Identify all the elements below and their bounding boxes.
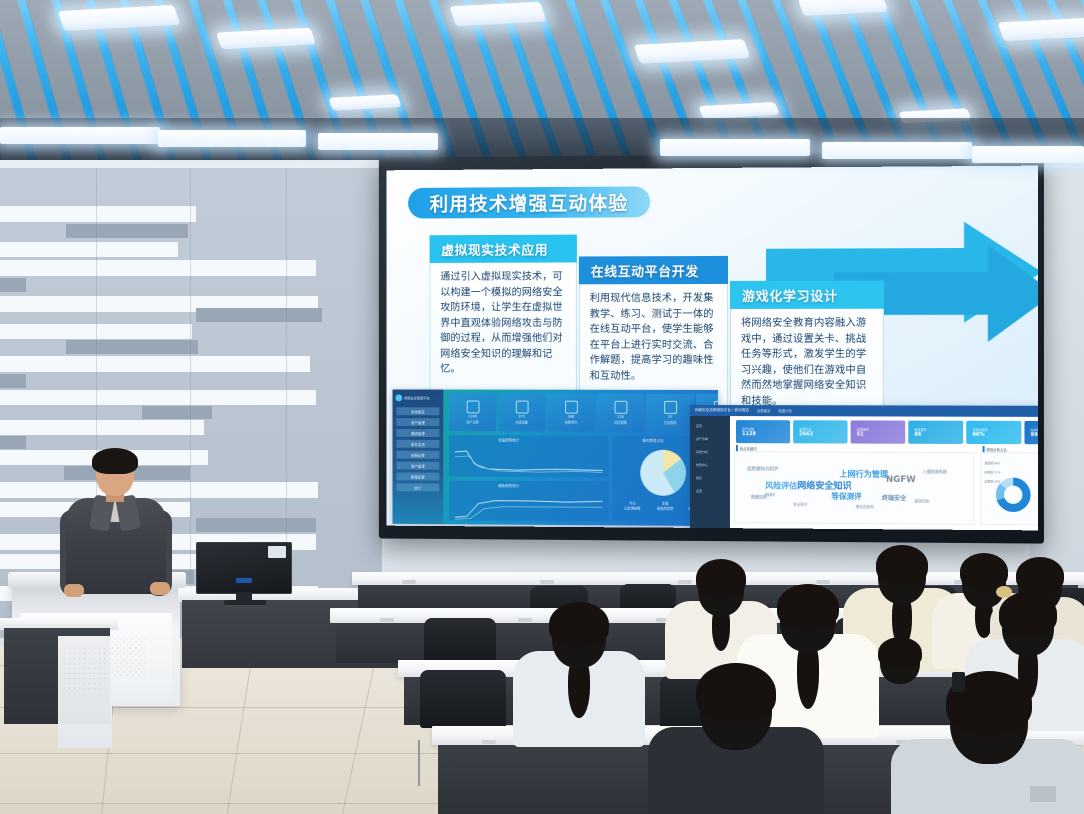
dashboard-right-kpi-2[interactable]: 高危漏洞51 [851,420,906,443]
word-cloud-term-2: 风险评估 [765,480,797,491]
student-hair-4 [549,602,608,647]
dashboard-right-topbar: 网络安全态势感知平台 / 首页概览 态势概览 数据分析 [690,405,1038,417]
donut-legend-item-2: 高风险 14% [985,479,1001,483]
wall-bar-6 [196,308,322,322]
stat-value-0: 已处理告警 [624,506,640,510]
wall-bar-13 [0,420,204,435]
monitor-label [268,546,286,558]
pie-chart-title: 事件类型占比 [642,439,663,444]
presentation-slide[interactable]: 利用技术增强互动体验 虚拟现实技术应用 通过引入虚拟现实技术，可以构建一个模拟的… [387,166,1038,531]
word-cloud-term-8: 入侵检测系统 [922,469,946,475]
student-hair-1 [876,545,929,585]
wall-bar-2 [0,242,178,257]
tile-label-3: 风险漏洞 [614,420,627,425]
student-badge [1030,786,1056,802]
line-chart-title-0: 流量趋势统计 [498,438,519,443]
wall-seam-1 [190,168,191,638]
kpi-value-1: 2663 [799,431,847,437]
floor-grout-v-2 [342,645,379,814]
wall-bar-12 [142,406,212,419]
dashboard-left-menu-item-3[interactable]: 事件监测 [396,440,439,448]
word-cloud-term-11: 零信任架构 [856,505,874,510]
shield-icon [466,400,479,413]
network-icon [515,401,528,414]
tile-value-1: 972 [518,414,525,418]
donut-hole [1004,486,1022,504]
list-icon [565,401,578,414]
dashboard-left-menu-item-5[interactable]: 用户管理 [396,462,439,470]
dashboard-right-kpi-5[interactable]: 在线率99% [1024,421,1037,445]
student-phone[interactable] [952,672,965,692]
dashboard-right-screenshot: 网络安全态势感知平台 / 首页概览 态势概览 数据分析 首页资产清单风险分析告警… [690,405,1038,530]
desk-grommet-1-1 [518,618,532,622]
word-cloud-term-5: 终端安全 [882,493,906,502]
student-hair-2 [960,553,1008,590]
chair-leg-0 [418,740,420,786]
desk-grommet-0-1 [540,580,554,584]
side-desk-perforation [62,646,106,690]
kpi-value-2: 51 [857,431,906,437]
dashboard-right-menu-item-1[interactable]: 资产清单 [693,435,727,442]
dashboard-left-menu-item-4[interactable]: 告警处置 [396,451,439,459]
panel-heading-platform: 在线互动平台开发 [579,256,728,284]
dashboard-left-screenshot: 网络安全管理平台 系统概览资产管理漏洞管理事件监测告警处置用户管理策略配置统计 … [393,389,718,526]
tile-value-2: 348 [568,415,575,419]
dashboard-left-tile-0[interactable]: 1286资产总数 [449,394,496,432]
panel-heading-vr: 虚拟现实技术应用 [430,235,577,263]
dashboard-left-tile-3[interactable]: 126风险漏洞 [597,394,645,432]
tile-value-3: 126 [617,415,624,419]
dashboard-left-menu-item-0[interactable]: 系统概览 [396,407,439,415]
presenter-hand-left [64,584,84,597]
dashboard-right-kpi-1[interactable]: 监测节点2663 [793,420,847,443]
dashboard-left-menu-item-7[interactable]: 统计 [396,483,439,491]
wall-light-3 [660,139,810,156]
dashboard-left-menu-item-2[interactable]: 漏洞管理 [396,429,439,437]
dashboard-right-menu-item-4[interactable]: 报表 [693,474,727,481]
tile-label-0: 资产总数 [466,419,478,424]
floor-grout-h-3 [0,803,470,804]
slide-title: 利用技术增强互动体验 [408,186,650,218]
student-chair-4[interactable] [424,618,496,662]
panel-heading-gamified: 游戏化学习设计 [730,281,884,309]
desk-grommet-3-0 [482,740,496,744]
dashboard-right-nav-0[interactable]: 态势概览 [757,408,771,413]
dashboard-right-breadcrumb: 网络安全态势感知平台 / 首页概览 [695,408,749,413]
dashboard-right-nav-1[interactable]: 数据分析 [778,408,792,413]
monitor-port-icon [236,578,252,583]
dashboard-left-stat-1: 本周新增风险项 [649,502,681,512]
layers-icon [614,401,627,414]
word-cloud-term-3: NGFW [886,475,916,485]
wall-bar-4 [0,278,26,292]
line-chart-1 [449,492,608,523]
desk-grommet-0-3 [816,580,830,584]
document-icon [664,401,677,414]
tile-label-1: 在线设备 [515,419,528,424]
wall-bar-10 [0,374,26,388]
word-cloud-term-4: 等保测评 [831,491,861,502]
wall-bar-8 [66,340,198,354]
student-hair-7 [696,663,775,722]
dashboard-right-menu-item-3[interactable]: 告警中心 [693,461,727,468]
dashboard-left-menu-item-1[interactable]: 资产管理 [396,418,439,426]
desk-grommet-0-2 [678,580,692,584]
logo-mark-icon [395,394,402,401]
student-hair-0 [696,559,747,598]
dashboard-right-kpi-3[interactable]: 处置事件86 [908,421,963,444]
desk-grommet-0-0 [402,580,416,584]
wall-bar-0 [0,206,196,222]
presenter-hand-right [150,582,170,595]
dashboard-left-sidebar: 网络安全管理平台 系统概览资产管理漏洞管理事件监测告警处置用户管理策略配置统计 [393,389,444,524]
dashboard-left-stat-0: 今日已处理告警 [616,501,648,511]
dashboard-left-logo: 网络安全管理平台 [395,392,440,403]
ceiling-light-tube-5 [998,18,1084,42]
floor-grout-v-1 [227,645,255,814]
stat-value-1: 新增风险项 [657,507,673,511]
dashboard-left-menu-item-6[interactable]: 策略配置 [396,472,439,480]
student-hair-9 [878,637,922,669]
tile-label-2: 告警事件 [565,420,578,425]
kpi-value-4: 96% [972,431,1021,437]
donut-chart-panel: 低风险 69%中风险 17%高风险 14% [981,452,1038,525]
kpi-value-0: 1128 [742,431,790,437]
dashboard-right-menu-item-2[interactable]: 风险分析 [693,448,727,455]
dashboard-left-line-card-0: 流量趋势统计 [449,435,608,477]
donut-legend-item-1: 中风险 17% [985,470,1001,474]
stat-label-0: 今日 [629,502,636,506]
donut-legend-item-0: 低风险 69% [985,461,1001,465]
wall-bar-1 [66,224,188,238]
tile-value-4: 57 [668,415,673,419]
dashboard-left-tile-4[interactable]: 57日志报表 [646,394,694,432]
presenter-hair [92,448,138,474]
tile-value-0: 1286 [468,414,477,418]
slide-panel-vr: 虚拟现实技术应用 通过引入虚拟现实技术，可以构建一个模拟的网络安全攻防环境，让学… [430,235,577,412]
wall-bar-3 [0,260,316,276]
tile-label-4: 日志报表 [664,420,677,425]
dashboard-right-sidebar: 首页资产清单风险分析告警中心报表设置 [690,416,730,529]
hair-scrunchie [996,586,1012,598]
presenter [62,452,170,592]
student-chair-8[interactable] [420,670,506,728]
dashboard-left-tile-2[interactable]: 348告警事件 [547,394,594,432]
wall-light-0 [0,127,160,144]
word-cloud-term-9: 安全审计 [793,503,807,508]
dashboard-right-menu-item-5[interactable]: 设置 [693,487,727,494]
dashboard-right-kpi-4[interactable]: 合规达标率96% [966,421,1021,444]
wall-bar-11 [0,390,316,405]
wall-bar-9 [0,356,310,372]
wall-light-5 [972,146,1084,163]
word-cloud-term-10: WAF [765,492,775,497]
line-chart-0 [449,446,608,477]
wall-bar-19 [196,518,316,532]
word-cloud-term-12: 漏洞扫描 [914,499,929,504]
word-cloud-term-6: 态势感知与防护 [747,466,779,472]
wall-light-4 [822,142,972,159]
kpi-value-5: 99% [1031,432,1038,438]
dashboard-left-line-card-1: 威胁趋势统计 [449,481,608,522]
desk-grommet-1-0 [380,618,394,622]
dashboard-right-kpi-0[interactable]: 资产总数1128 [736,420,790,443]
dashboard-left-tile-1[interactable]: 972在线设备 [498,394,545,432]
line-chart-title-1: 威胁趋势统计 [498,484,519,489]
logo-text: 网络安全管理平台 [404,396,430,400]
word-cloud: 网络安全知识上网行为管理风险评估NGFW等保测评终端安全态势感知与防护数据加密入… [734,451,974,525]
left-wall-panel [0,168,382,638]
stat-label-1: 本周 [662,502,669,506]
wall-light-2 [318,133,438,150]
wall-bar-14 [0,436,26,449]
word-cloud-term-1: 上网行为管理 [839,469,888,480]
wall-light-1 [158,130,306,147]
monitor-base [224,600,266,605]
student-hair-5 [777,584,839,630]
dashboard-right-menu-item-0[interactable]: 首页 [693,422,727,429]
kpi-value-3: 86 [914,431,963,437]
student-hair-6 [999,592,1056,635]
pie-chart [640,450,686,496]
classroom-photo: 利用技术增强互动体验 虚拟现实技术应用 通过引入虚拟现实技术，可以构建一个模拟的… [0,0,1084,814]
student-hair-3 [1016,557,1064,594]
